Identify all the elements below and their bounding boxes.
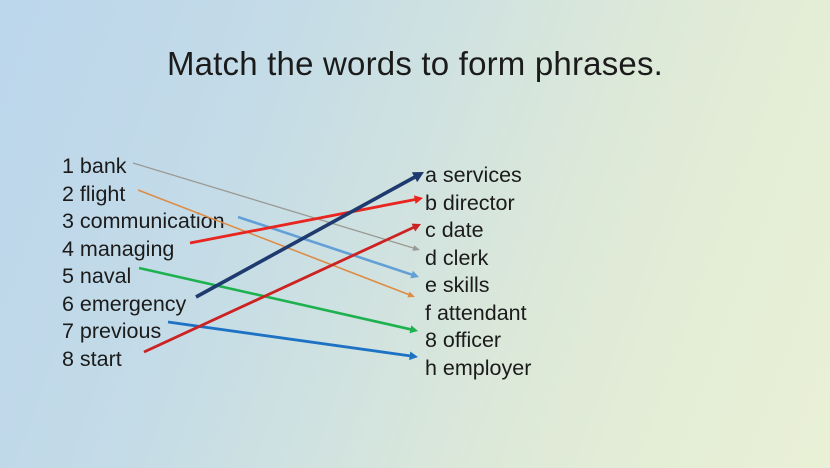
list-item[interactable]: a services: [425, 162, 531, 190]
connector-managing-to-director: [190, 195, 423, 243]
arrowhead-icon: [412, 172, 424, 182]
list-item[interactable]: 3 communication: [62, 208, 225, 236]
list-item[interactable]: 2 flight: [62, 181, 225, 209]
list-item[interactable]: 7 previous: [62, 318, 225, 346]
connector-line: [238, 217, 413, 275]
list-item[interactable]: h employer: [425, 355, 531, 383]
list-item[interactable]: c date: [425, 217, 531, 245]
list-item[interactable]: 8 officer: [425, 327, 531, 355]
left-word-column: 1 bank 2 flight 3 communication 4 managi…: [62, 153, 225, 373]
connector-communication-to-skills: [238, 217, 419, 278]
arrowhead-icon: [410, 271, 419, 279]
arrowhead-icon: [409, 352, 418, 361]
list-item[interactable]: 1 bank: [62, 153, 225, 181]
list-item[interactable]: b director: [425, 190, 531, 218]
arrowhead-icon: [412, 224, 421, 232]
list-item[interactable]: 4 managing: [62, 236, 225, 264]
connector-emergency-to-services: [196, 172, 424, 297]
arrowhead-icon: [407, 292, 415, 298]
list-item[interactable]: 6 emergency: [62, 291, 225, 319]
list-item[interactable]: 8 start: [62, 346, 225, 374]
list-item[interactable]: e skills: [425, 272, 531, 300]
list-item[interactable]: f attendant: [425, 300, 531, 328]
page-title: Match the words to form phrases.: [0, 44, 830, 84]
list-item[interactable]: d clerk: [425, 245, 531, 273]
arrowhead-icon: [410, 325, 418, 333]
right-word-column: a services b director c date d clerk e s…: [425, 162, 531, 382]
arrowhead-icon: [412, 245, 420, 251]
arrowhead-icon: [414, 195, 423, 204]
list-item[interactable]: 5 naval: [62, 263, 225, 291]
slide-canvas: Match the words to form phrases. 1 bank …: [0, 0, 830, 468]
connector-line: [196, 177, 416, 297]
